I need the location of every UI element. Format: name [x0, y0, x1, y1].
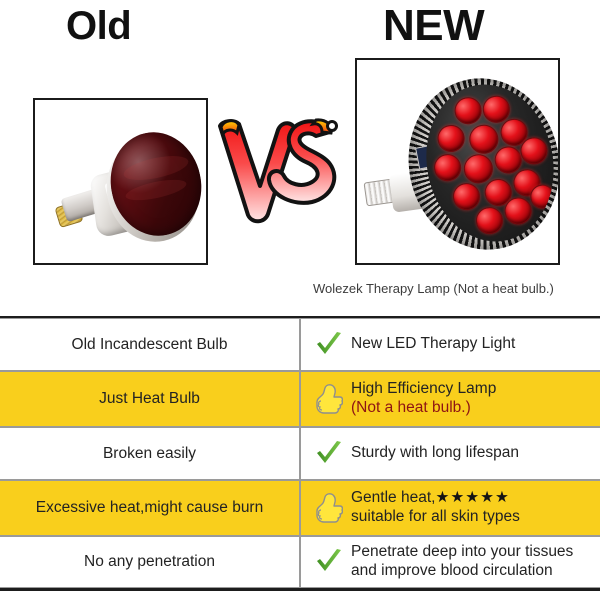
heading-old: Old — [66, 6, 131, 46]
thumbs-up-icon — [307, 492, 351, 524]
vs-badge — [212, 108, 340, 230]
check-icon — [307, 331, 351, 359]
old-feature-text: Broken easily — [103, 444, 196, 463]
new-feature-text: Sturdy with long lifespan — [351, 444, 519, 461]
led-diode — [435, 123, 467, 155]
old-feature-text: Just Heat Bulb — [99, 389, 200, 408]
new-lamp-image-frame — [355, 58, 560, 265]
table-cell-new: Penetrate deep into your tissues and imp… — [300, 536, 600, 588]
table-cell-old: Broken easily — [0, 427, 300, 480]
table-cell-new: Sturdy with long lifespan — [300, 427, 600, 480]
table-cell-old: Excessive heat,might cause burn — [0, 480, 300, 536]
star-rating: ★★★★★ — [435, 489, 509, 506]
check-icon — [307, 440, 351, 468]
table-cell-old: No any penetration — [0, 536, 300, 588]
old-feature-text: Old Incandescent Bulb — [72, 335, 228, 354]
table-cell-new: New LED Therapy Light — [300, 318, 600, 371]
table-row: Broken easily Sturdy with long lifespan — [0, 427, 600, 480]
table-cell-old: Old Incandescent Bulb — [0, 318, 300, 371]
new-feature-text: High Efficiency Lamp — [351, 380, 496, 397]
old-incandescent-bulb-illustration — [35, 100, 206, 263]
new-feature-text: Gentle heat, — [351, 489, 435, 506]
old-feature-text: Excessive heat,might cause burn — [36, 498, 263, 517]
new-lamp-caption: Wolezek Therapy Lamp (Not a heat bulb.) — [313, 281, 593, 296]
table-row: Excessive heat,might cause burn Gentle h… — [0, 480, 600, 536]
led-diode — [452, 95, 484, 127]
heading-new: NEW — [383, 4, 484, 48]
led-diode — [451, 181, 483, 213]
table-row: Just Heat Bulb High Efficiency Lamp (Not… — [0, 371, 600, 427]
old-feature-text: No any penetration — [84, 552, 215, 571]
new-feature-text: New LED Therapy Light — [351, 335, 515, 352]
led-diode — [432, 152, 464, 184]
new-feature-subtext: and improve blood circulation — [351, 562, 553, 579]
table-cell-new: High Efficiency Lamp (Not a heat bulb.) — [300, 371, 600, 427]
table-row: No any penetration Penetrate deep into y… — [0, 536, 600, 588]
table-cell-old: Just Heat Bulb — [0, 371, 300, 427]
table-cell-new: Gentle heat,★★★★★ suitable for all skin … — [300, 480, 600, 536]
thumbs-up-icon — [307, 383, 351, 415]
check-icon — [307, 548, 351, 576]
led-diode — [474, 205, 506, 237]
new-feature-subtext: suitable for all skin types — [351, 508, 520, 525]
new-feature-subtext: (Not a heat bulb.) — [351, 399, 471, 416]
led-therapy-lamp-illustration — [357, 60, 558, 263]
new-feature-text: Penetrate deep into your tissues — [351, 543, 573, 560]
led-diode — [467, 122, 501, 156]
table-row: Old Incandescent Bulb New LED Therapy Li… — [0, 318, 600, 371]
old-bulb-image-frame — [33, 98, 208, 265]
comparison-table: Old Incandescent Bulb New LED Therapy Li… — [0, 316, 600, 591]
